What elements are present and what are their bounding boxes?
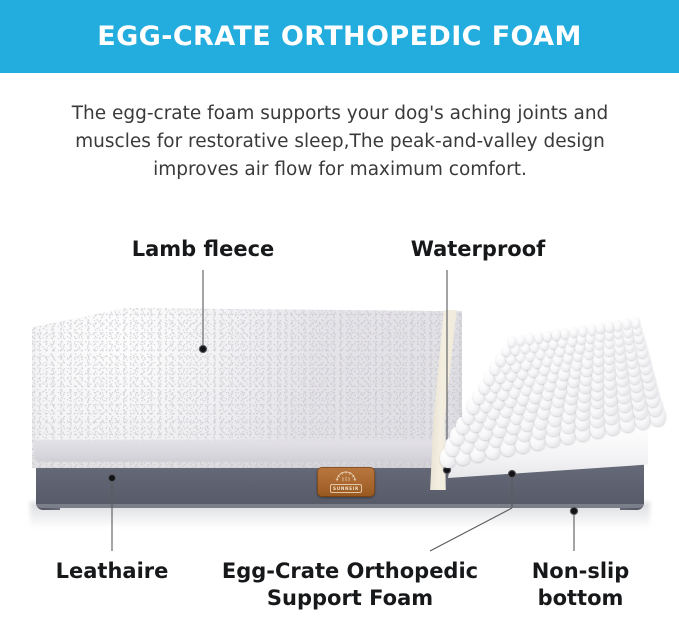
foam-nub (535, 332, 543, 343)
foam-nub (552, 329, 560, 340)
callout-label-non-slip-bottom: Non-slip bottom (508, 558, 653, 612)
sunburst-logo-icon (332, 471, 360, 484)
foam-nub (526, 333, 534, 344)
foam-nub (632, 317, 640, 328)
foam-nub (596, 323, 604, 334)
foam-nub (561, 328, 569, 339)
callout-label-lamb-fleece: Lamb fleece (113, 236, 293, 263)
foam-nub (614, 320, 622, 331)
product-infographic: EGG-CRATE ORTHOPEDIC FOAM The egg-crate … (0, 0, 679, 617)
foam-nub (579, 325, 587, 336)
header-banner: EGG-CRATE ORTHOPEDIC FOAM (0, 0, 679, 73)
foam-nub (605, 321, 613, 332)
brand-patch: SUNNEIR (317, 467, 375, 497)
egg-crate-nub-grid (438, 298, 679, 466)
fleece-edge (34, 440, 454, 462)
callout-label-waterproof: Waterproof (378, 236, 578, 263)
foam-nub (543, 331, 551, 342)
page-title: EGG-CRATE ORTHOPEDIC FOAM (97, 21, 581, 52)
callout-label-leathaire: Leathaire (37, 558, 187, 585)
foam-nub (588, 324, 596, 335)
brand-name: SUNNEIR (330, 484, 362, 493)
intro-description: The egg-crate foam supports your dog's a… (50, 100, 630, 184)
callout-label-egg-crate-foam: Egg-Crate Orthopedic Support Foam (205, 558, 495, 612)
